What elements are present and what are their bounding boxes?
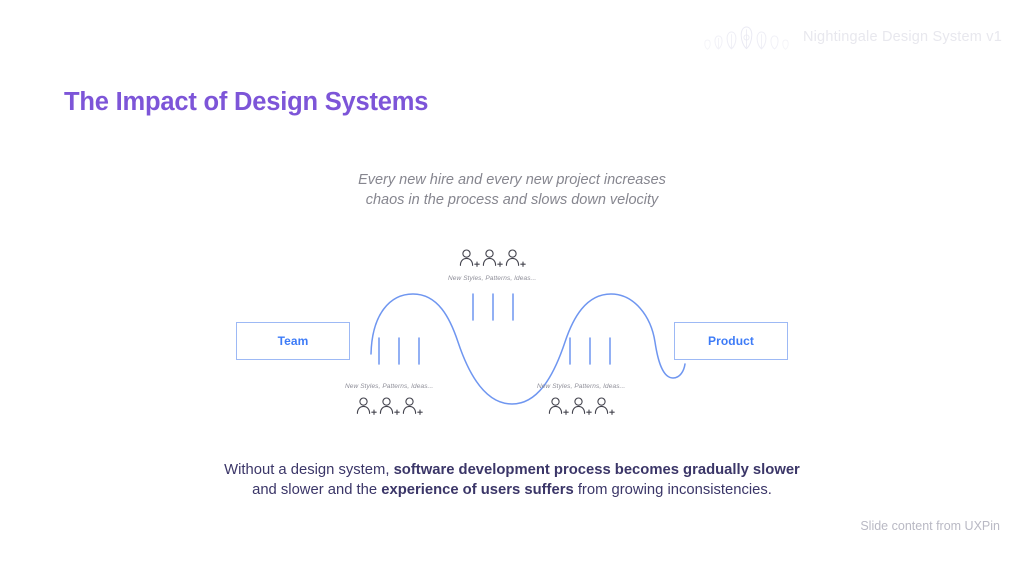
add-person-icon bbox=[570, 396, 592, 418]
node-team-label: Team bbox=[278, 334, 309, 348]
footer-credit: Slide content from UXPin bbox=[860, 519, 1000, 533]
arrow-group-top-center bbox=[473, 294, 513, 320]
conclusion-line-2-plain-end: from growing inconsistencies. bbox=[574, 482, 772, 498]
cluster-caption: New Styles, Patterns, Ideas... bbox=[448, 275, 536, 282]
add-person-icon bbox=[481, 248, 503, 270]
conclusion-line-2: and slower and the experience of users s… bbox=[0, 480, 1024, 500]
slide-subtitle: Every new hire and every new project inc… bbox=[0, 170, 1024, 210]
person-icon-row bbox=[458, 248, 526, 270]
slide-canvas: Nightingale Design System v1 The Impact … bbox=[0, 0, 1024, 577]
feather-logo-icon bbox=[704, 24, 789, 50]
icon-cluster-top: New Styles, Patterns, Ideas... bbox=[448, 248, 536, 282]
add-person-icon bbox=[504, 248, 526, 270]
node-team[interactable]: Team bbox=[236, 322, 350, 360]
conclusion-line-2-plain-start: and slower and the bbox=[252, 482, 381, 498]
add-person-icon bbox=[401, 396, 423, 418]
subtitle-line-1: Every new hire and every new project inc… bbox=[0, 170, 1024, 190]
add-person-icon bbox=[458, 248, 480, 270]
conclusion-line-1-plain: Without a design system, bbox=[224, 462, 393, 478]
arrow-group-bottom-right bbox=[570, 338, 610, 364]
page-title: The Impact of Design Systems bbox=[64, 88, 428, 117]
node-product-label: Product bbox=[708, 334, 754, 348]
brand-title: Nightingale Design System v1 bbox=[803, 29, 1002, 45]
arrow-group-bottom-left bbox=[379, 338, 419, 364]
cluster-caption: New Styles, Patterns, Ideas... bbox=[345, 383, 433, 390]
icon-cluster-bottom-left: New Styles, Patterns, Ideas... bbox=[345, 383, 433, 418]
icon-cluster-bottom-right: New Styles, Patterns, Ideas... bbox=[537, 383, 625, 418]
cluster-caption: New Styles, Patterns, Ideas... bbox=[537, 383, 625, 390]
conclusion-line-1: Without a design system, software develo… bbox=[0, 460, 1024, 480]
add-person-icon bbox=[378, 396, 400, 418]
chaos-wave-diagram: Team Product bbox=[0, 238, 1024, 443]
conclusion-paragraph: Without a design system, software develo… bbox=[0, 460, 1024, 500]
slide-header: Nightingale Design System v1 bbox=[704, 22, 1002, 52]
conclusion-line-1-bold: software development process becomes gra… bbox=[394, 462, 800, 478]
subtitle-line-2: chaos in the process and slows down velo… bbox=[0, 190, 1024, 210]
add-person-icon bbox=[547, 396, 569, 418]
node-product[interactable]: Product bbox=[674, 322, 788, 360]
add-person-icon bbox=[355, 396, 377, 418]
person-icon-row bbox=[547, 396, 615, 418]
person-icon-row bbox=[355, 396, 423, 418]
conclusion-line-2-bold: experience of users suffers bbox=[381, 482, 573, 498]
add-person-icon bbox=[593, 396, 615, 418]
